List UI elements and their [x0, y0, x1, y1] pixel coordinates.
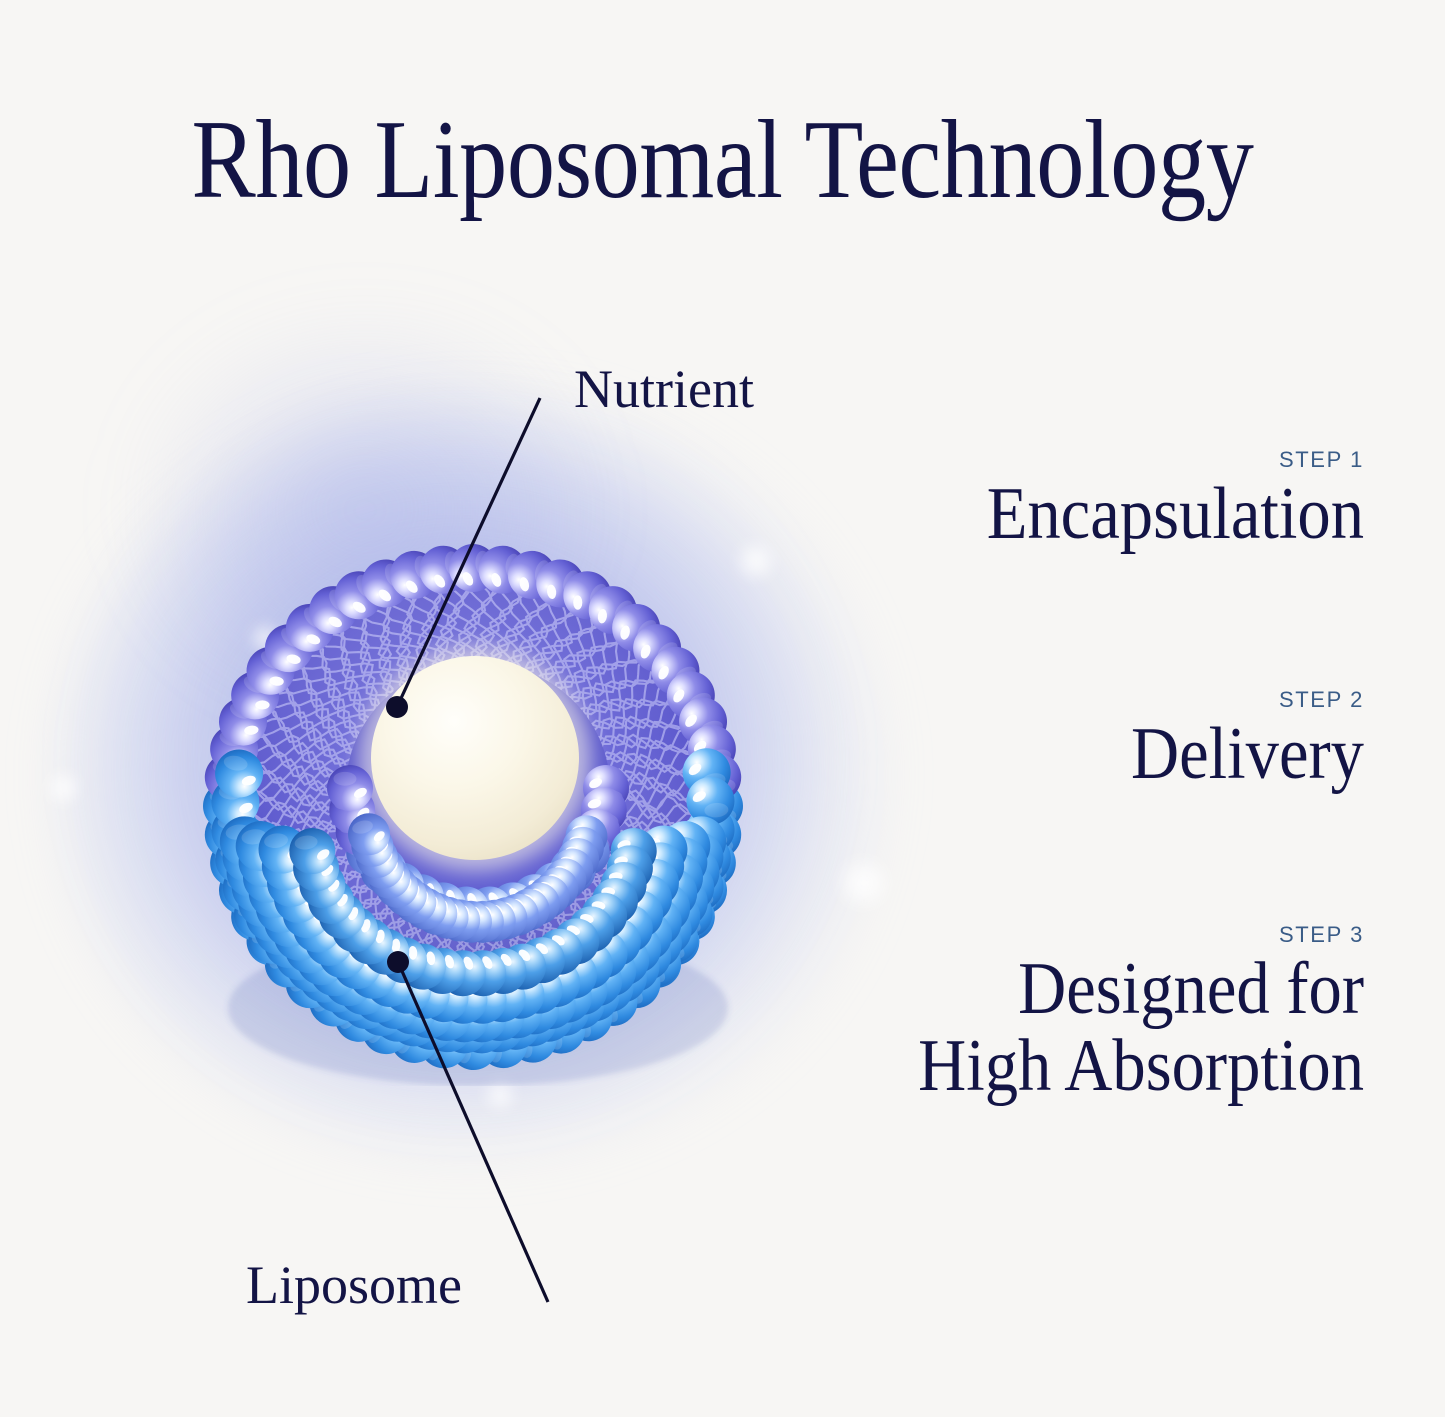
infographic-canvas: Rho Liposomal Technology Nutrient Liposo…: [0, 0, 1445, 1417]
leader-line-liposome: [398, 962, 548, 1302]
step-3-kicker: STEP 3: [760, 923, 1364, 947]
step-3-title: Designed for High Absorption: [820, 951, 1364, 1105]
callout-label-nutrient: Nutrient: [574, 362, 754, 416]
step-2-kicker: STEP 2: [760, 688, 1364, 712]
step-2-title-line-1: Delivery: [820, 716, 1364, 793]
step-2-title: Delivery: [820, 716, 1364, 793]
step-1-title: Encapsulation: [820, 476, 1364, 553]
leader-dot-liposome: [387, 951, 409, 973]
page-title: Rho Liposomal Technology: [101, 104, 1344, 216]
step-3-title-line-1: Designed for: [820, 951, 1364, 1028]
step-1-kicker: STEP 1: [760, 448, 1364, 472]
step-item-1: STEP 1 Encapsulation: [760, 448, 1364, 553]
step-item-2: STEP 2 Delivery: [760, 688, 1364, 793]
step-item-3: STEP 3 Designed for High Absorption: [760, 923, 1364, 1105]
leader-dot-nutrient: [386, 696, 408, 718]
step-1-title-line-1: Encapsulation: [820, 476, 1364, 553]
callout-label-liposome: Liposome: [246, 1258, 462, 1312]
leader-line-nutrient: [397, 398, 540, 707]
step-3-title-line-2: High Absorption: [820, 1028, 1364, 1105]
